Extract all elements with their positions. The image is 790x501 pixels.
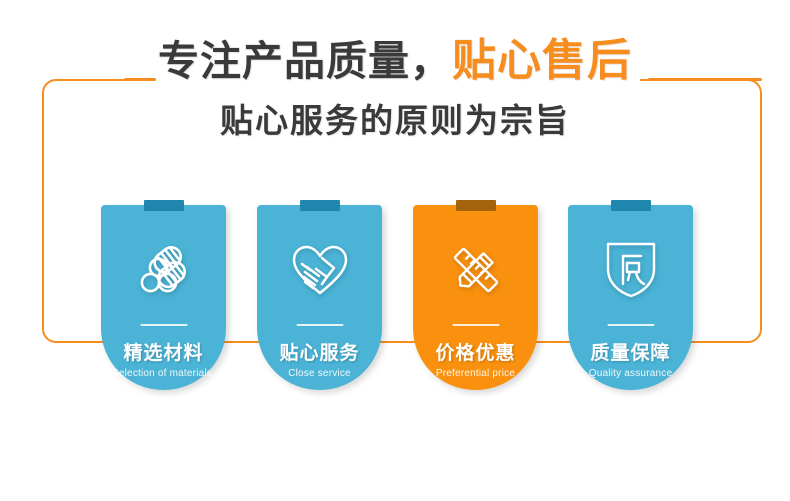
card-divider — [296, 324, 343, 326]
title-row: 专注产品质量，贴心售后 — [0, 34, 790, 88]
feature-card-price[interactable]: 价格优惠 Preferential price — [413, 205, 538, 390]
stacked-logs-icon — [101, 231, 226, 309]
card-title: 质量保障 — [568, 338, 693, 365]
card-title: 价格优惠 — [413, 338, 538, 365]
card-tab — [611, 200, 651, 211]
feature-card-materials[interactable]: 精选材料 Selection of materials, — [101, 205, 226, 390]
pencil-ruler-icon — [413, 231, 538, 309]
feature-card-list: 精选材料 Selection of materials, — [101, 200, 693, 400]
card-subtitle: Quality assurance — [568, 368, 693, 379]
heading-block: 专注产品质量，贴心售后 贴心服务的原则为宗旨 — [0, 34, 790, 142]
page-subtitle: 贴心服务的原则为宗旨 — [0, 94, 790, 142]
page-title-accent: 贴心售后 — [452, 35, 632, 86]
card-title: 精选材料 — [101, 338, 226, 365]
card-divider — [452, 324, 499, 326]
card-divider — [140, 324, 187, 326]
shield-quality-icon — [568, 231, 693, 309]
promo-banner: 专注产品质量，贴心售后 贴心服务的原则为宗旨 — [0, 0, 790, 501]
page-title-main: 专注产品质量， — [158, 37, 452, 85]
card-tab — [144, 200, 184, 211]
card-subtitle: Close service — [257, 368, 382, 379]
card-subtitle: Preferential price — [413, 368, 538, 379]
title-rule-right — [648, 78, 762, 81]
handshake-heart-icon — [257, 231, 382, 309]
card-subtitle: Selection of materials, — [101, 368, 226, 379]
feature-card-quality[interactable]: 质量保障 Quality assurance — [568, 205, 693, 390]
card-tab — [300, 200, 340, 211]
card-title: 贴心服务 — [257, 338, 382, 365]
feature-card-service[interactable]: 贴心服务 Close service — [257, 205, 382, 390]
title-rule-left — [124, 78, 156, 81]
card-divider — [607, 324, 654, 326]
card-tab — [456, 200, 496, 211]
